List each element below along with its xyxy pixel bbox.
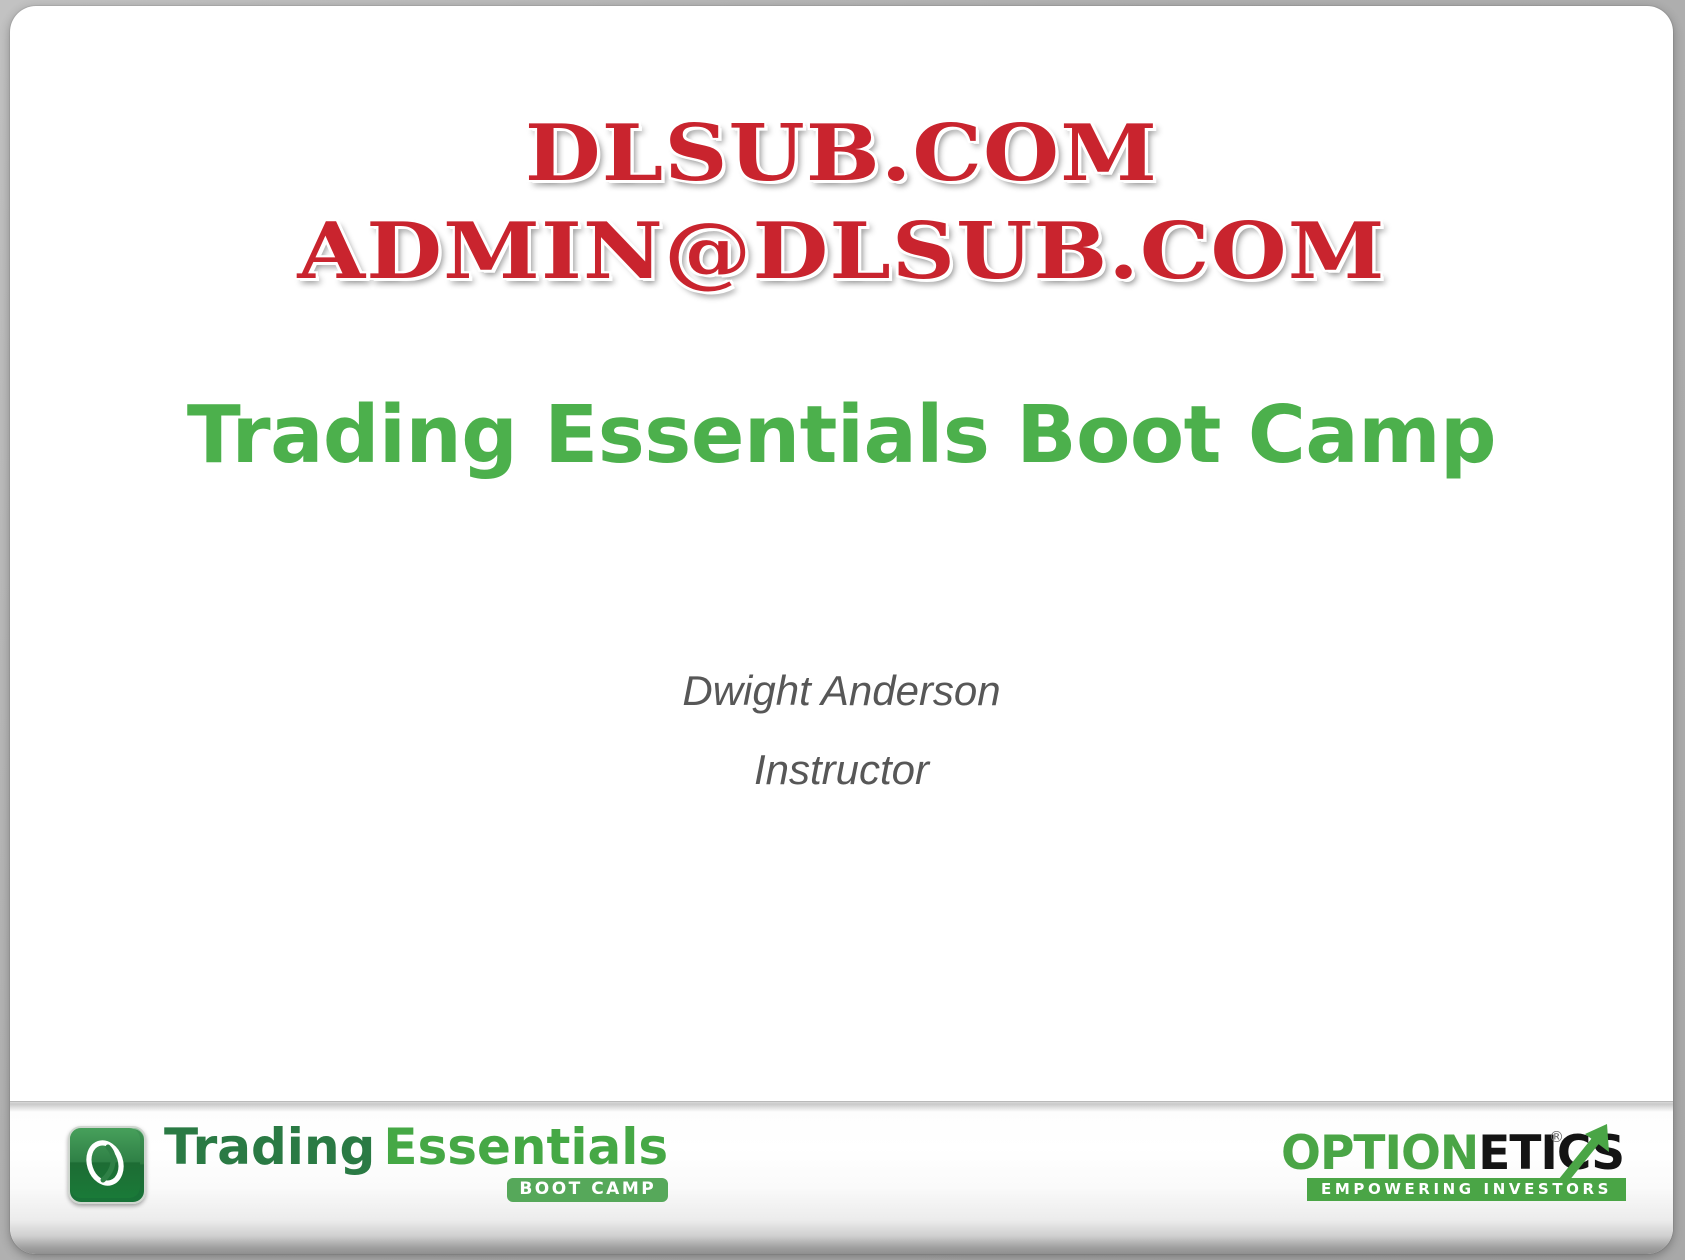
presentation-slide: DLSUB.COM ADMIN@DLSUB.COM Trading Essent… <box>10 6 1673 1254</box>
slide-footer-bar: TradingEssentials BOOT CAMP OPTIONETICS … <box>10 1101 1673 1254</box>
watermark-email-text: ADMIN@DLSUB.COM <box>10 212 1673 292</box>
presenter-block: Dwight Anderson Instructor <box>10 661 1673 801</box>
te-word-trading: Trading <box>164 1118 375 1176</box>
optionetics-logo: OPTIONETICS ® EMPOWERING INVESTORS <box>1281 1126 1611 1210</box>
opt-word-option: OPTION <box>1281 1126 1478 1181</box>
presenter-role: Instructor <box>10 740 1673 801</box>
watermark-overlay: DLSUB.COM ADMIN@DLSUB.COM <box>10 114 1673 291</box>
slide-viewer: DLSUB.COM ADMIN@DLSUB.COM Trading Essent… <box>0 0 1685 1260</box>
trading-essentials-leaf-mark-icon <box>68 1126 146 1204</box>
trading-essentials-words: TradingEssentials <box>164 1122 668 1172</box>
trading-essentials-wordmark: TradingEssentials BOOT CAMP <box>164 1122 668 1202</box>
footer-content: TradingEssentials BOOT CAMP OPTIONETICS … <box>10 1102 1673 1254</box>
te-word-essentials: Essentials <box>383 1118 668 1176</box>
boot-camp-badge: BOOT CAMP <box>507 1178 668 1202</box>
optionetics-tagline: EMPOWERING INVESTORS <box>1307 1178 1626 1201</box>
presenter-name: Dwight Anderson <box>10 661 1673 722</box>
trading-essentials-logo: TradingEssentials BOOT CAMP <box>68 1126 668 1206</box>
watermark-site-text: DLSUB.COM <box>10 114 1673 194</box>
te-badge-row: BOOT CAMP <box>164 1178 668 1202</box>
slide-title: Trading Essentials Boot Camp <box>10 394 1673 477</box>
optionetics-wordmark-row: OPTIONETICS ® <box>1281 1126 1611 1182</box>
